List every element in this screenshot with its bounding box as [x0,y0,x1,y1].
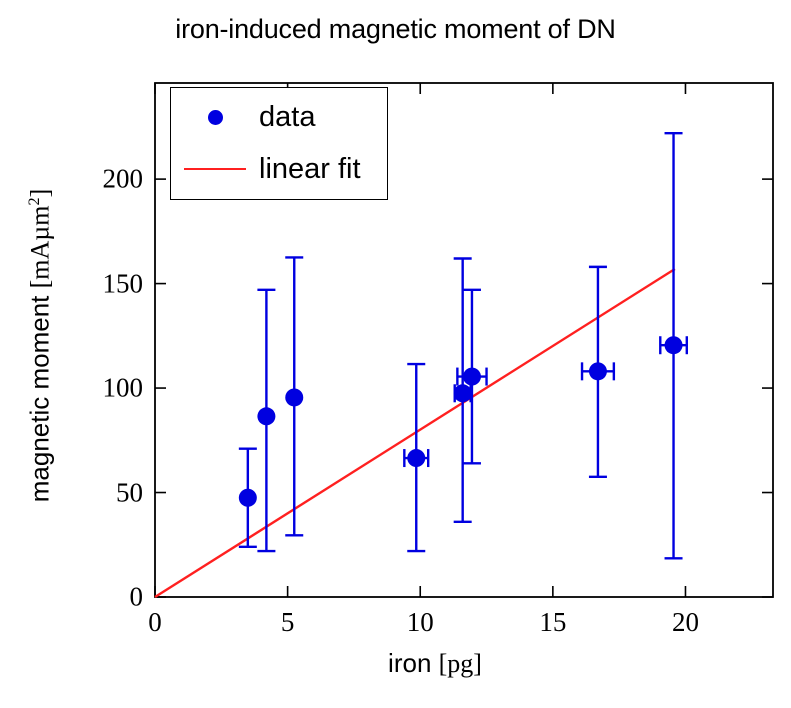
y-axis-unit-mu: µm [26,205,55,240]
legend-marker-line-icon [171,168,259,170]
data-point [285,257,303,535]
y-axis-label: magnetic moment [mAµm2] [25,66,56,626]
legend-marker-dot-icon [171,110,259,125]
y-axis-unit-exponent: 2 [26,197,43,205]
x-axis-label: iron [pg] [155,648,715,679]
y-tick-label: 50 [55,477,143,508]
x-tick-label: 5 [281,607,295,638]
y-tick-label: 150 [55,268,143,299]
y-tick-label: 200 [55,164,143,195]
data-point [660,133,687,558]
legend-item-data: data [171,92,387,142]
x-axis-label-main: iron [388,648,439,678]
x-tick-label: 10 [407,607,434,638]
x-axis-label-unit: [pg] [439,649,482,678]
y-tick-label: 0 [55,582,143,613]
data-point [239,449,257,547]
chart-legend: data linear fit [170,87,388,200]
data-point [257,290,275,551]
legend-label-linear-fit: linear fit [259,155,361,184]
y-axis-label-unit: [mAµm2] [26,189,55,289]
chart-figure: iron-induced magnetic moment of DN 05101… [0,0,791,708]
x-tick-label: 15 [539,607,566,638]
x-tick-label: 20 [672,607,699,638]
data-point [404,364,428,551]
y-axis-unit-close: ] [26,189,55,198]
y-tick-label: 100 [55,373,143,404]
legend-label-data: data [259,103,315,132]
y-axis-label-main: magnetic moment [25,288,55,502]
x-tick-label: 0 [148,607,162,638]
data-point [582,267,614,477]
data-point [454,259,472,522]
legend-item-linear-fit: linear fit [171,144,387,194]
y-axis-unit-open: [mA [26,241,55,289]
